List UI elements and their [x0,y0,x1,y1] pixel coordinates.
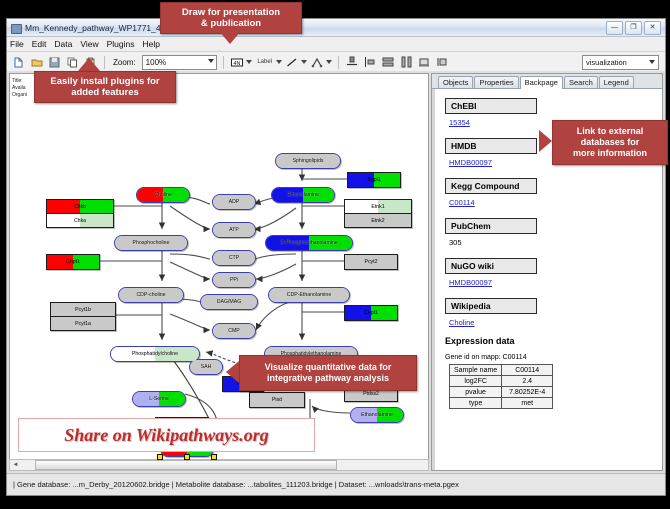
stack-icon[interactable] [381,55,396,70]
metabolite-node[interactable]: ADP [212,194,256,210]
callout-links: Link to external databases for more info… [552,120,668,165]
gene-product-stack[interactable]: ChkbChka [46,199,114,228]
callout-links-line3: more information [573,148,647,159]
align-icon[interactable] [345,55,360,70]
metabolite-node[interactable]: CTP [212,250,256,266]
close-button[interactable]: ✕ [644,21,661,35]
node-label: DAG/MAG [217,299,242,305]
chevron-down-icon[interactable] [326,60,332,64]
database-header: Kegg Compound [445,178,537,194]
metabolite-node[interactable]: Sphingolipids [275,153,341,169]
title-bar: Mm_Kennedy_pathway_WP1771_45176.gpml — ❐… [7,19,665,37]
chevron-down-icon[interactable] [276,60,282,64]
callout-plugins-arrow-icon [78,58,100,71]
metabolite-node[interactable]: CDP-choline [118,287,184,303]
metabolite-node[interactable]: Ethanolamine [271,187,335,203]
menu-item-help[interactable]: Help [143,39,160,49]
callout-visualize: Visualize quantitative data for integrat… [239,355,417,391]
tab-objects[interactable]: Objects [438,76,473,88]
selection-handle[interactable] [211,454,217,460]
order-icon[interactable] [435,55,450,70]
callout-share: Share on Wikipathways.org [18,418,315,452]
database-link[interactable]: HMDB00097 [449,278,662,287]
callout-draw-line1: Draw for presentation [182,7,280,18]
callout-visualize-line2: integrative pathway analysis [267,373,389,384]
database-header: HMDB [445,138,537,154]
node-label: CTP [229,255,239,261]
database-link[interactable]: C00114 [449,198,662,207]
tab-search[interactable]: Search [564,76,598,88]
node-label: ADP [229,199,240,205]
pathway-canvas[interactable]: Title: Availa Organi [10,74,426,471]
node-label: Etnk1 [371,204,384,210]
node-label: Phosphatidylcholine [132,351,178,357]
menu-item-data[interactable]: Data [54,39,72,49]
node-label: Phosphocholine [133,240,170,246]
metabolite-node[interactable]: DAG/MAG [200,294,258,310]
menu-item-file[interactable]: File [10,39,24,49]
metabolite-node[interactable]: Phosphocholine [114,235,188,251]
database-header: ChEBI [445,98,537,114]
scroll-left-icon[interactable]: ◄ [10,461,21,469]
metabolite-node[interactable]: CMP [212,323,256,339]
node-label: Sgpl1 [367,177,380,183]
screenshot-root: Mm_Kennedy_pathway_WP1771_45176.gpml — ❐… [0,0,670,509]
node-label: Chka [74,218,86,224]
gene-product-node[interactable]: Pisd [249,392,305,408]
gene-product-stack[interactable]: Pcyt1bPcyt1a [50,302,116,331]
callout-plugins-line1: Easily install plugins for [50,76,159,87]
selection-handle[interactable] [157,454,163,460]
metabolite-node[interactable]: SAH [189,359,223,375]
database-header: Wikipedia [445,298,537,314]
gene-product-node[interactable]: Cept1 [344,305,398,321]
chevron-down-icon[interactable] [208,59,214,63]
gene-product-node[interactable]: Etnk2 [345,214,411,227]
metabolite-node[interactable]: Choline [136,187,190,203]
minimize-button[interactable]: — [606,21,623,35]
node-label: Pisd [272,397,282,403]
database-header: NuGO wiki [445,258,537,274]
node-label: Chpt1 [66,259,80,265]
table-row: pvalue7.80252E-4 [450,387,553,398]
node-label: Pcyt1a [75,321,91,327]
metabolite-node[interactable]: CDP-Ethanolamine [268,287,350,303]
chevron-down-icon[interactable] [649,60,655,64]
menu-bar: File Edit Data View Plugins Help [7,37,665,52]
window-controls: — ❐ ✕ [606,21,661,35]
status-bar: | Gene database: ...m_Derby_20120602.bri… [7,473,665,495]
node-label: ATP [229,227,239,233]
node-label: Pcyt2 [365,259,378,265]
line-icon[interactable] [285,55,300,70]
callout-links-arrow-icon [539,130,552,152]
tab-backpage[interactable]: Backpage [520,76,563,89]
node-label: PPi [230,277,238,283]
expression-table: Sample nameC00114log2FC2.4pvalue7.80252E… [449,364,553,409]
node-label: L-Serine [149,396,169,402]
menu-item-view[interactable]: View [80,39,98,49]
table-cell: 2.4 [502,376,553,387]
table-cell: 7.80252E-4 [502,387,553,398]
node-label: CDP-choline [136,292,165,298]
node-label: CMP [228,328,240,334]
gene-product-node[interactable]: Pcyt1b [51,303,115,317]
visualization-select[interactable]: visualization [582,55,659,70]
callout-draw-arrow-icon [219,31,241,44]
node-label: Pcyt1b [75,307,91,313]
metabolite-node[interactable]: L-Serine [132,391,186,407]
app-icon [11,23,21,33]
label-tool[interactable]: Label [255,55,282,70]
space-icon[interactable] [399,55,414,70]
callout-visualize-line1: Visualize quantitative data for [265,362,392,373]
node-label: Cept1 [364,310,378,316]
gene-product-node[interactable]: Pcyt1a [51,317,115,330]
distribute-icon[interactable] [363,55,378,70]
tab-properties[interactable]: Properties [474,76,518,88]
table-cell: pvalue [450,387,502,398]
zoom-label: Zoom: [113,58,136,67]
menu-item-edit[interactable]: Edit [32,39,47,49]
toolbar-separator [104,56,105,69]
selection-handle[interactable] [184,454,190,460]
metabolite-node[interactable]: Ethanolamine [350,407,404,423]
datanode-tool[interactable]: 4N [230,55,252,70]
table-row: typemet [450,398,553,409]
gene-product-node[interactable]: Etnk1 [345,200,411,214]
table-cell: C00114 [502,365,553,376]
table-cell: met [502,398,553,409]
save-icon[interactable] [47,55,62,70]
node-label: Chkb [74,204,86,210]
gene-id-line: Gene id on mapp: C00114 [445,354,662,361]
callout-draw: Draw for presentation & publication [160,2,302,34]
callout-visualize-arrow-icon [226,361,239,383]
node-label: SAH [201,364,212,370]
menu-item-plugins[interactable]: Plugins [107,39,135,49]
gene-product-node[interactable]: Pcyt2 [344,254,398,270]
table-cell: Sample name [450,365,502,376]
node-label: Ethanolamine [361,412,393,418]
datanode-icon[interactable]: 4N [230,55,245,70]
gene-product-node[interactable]: Chka [47,214,113,227]
gene-product-node[interactable]: Chkb [47,200,113,214]
pathway-canvas-area[interactable]: Title: Availa Organi [9,73,429,471]
chevron-down-icon[interactable] [301,60,307,64]
shape-icon[interactable] [310,55,325,70]
callout-draw-line2: & publication [201,18,261,29]
toolbar-separator [223,56,224,69]
table-cell: type [450,398,502,409]
callout-links-line2: databases for [581,137,640,148]
canvas-hscrollbar[interactable]: ◄ [9,459,429,471]
toolbar: Zoom: 100% 4N Label [7,52,665,73]
svg-text:4N: 4N [234,60,241,66]
scroll-thumb[interactable] [35,460,337,470]
node-label: Etnk2 [371,218,384,224]
table-row: log2FC2.4 [450,376,553,387]
node-label: O-Phosphoethanolamine [280,240,337,246]
table-row: Sample nameC00114 [450,365,553,376]
shape-tool[interactable] [310,55,332,70]
status-text: | Gene database: ...m_Derby_20120602.bri… [7,480,459,489]
node-label: Sphingolipids [293,158,324,164]
node-label: Ptdss2 [363,391,379,397]
node-label: Choline [154,192,172,198]
gene-product-node[interactable]: Chpt1 [46,254,100,270]
metabolite-node[interactable]: PPi [212,272,256,288]
node-label: Ethanolamine [287,192,319,198]
metabolite-node[interactable]: Phosphatidylcholine [110,346,200,362]
side-panel-tabs: ObjectsPropertiesBackpageSearchLegend [432,74,662,89]
toolbar-separator [338,56,339,69]
open-folder-icon[interactable] [29,55,44,70]
tab-legend[interactable]: Legend [599,76,634,88]
maximize-button[interactable]: ❐ [625,21,642,35]
line-tool[interactable] [285,55,307,70]
database-link[interactable]: Choline [449,318,662,327]
metabolite-node[interactable]: O-Phosphoethanolamine [265,235,353,251]
group-icon[interactable] [417,55,432,70]
database-value: 305 [449,238,662,247]
expression-data-heading: Expression data [445,336,662,346]
gene-product-stack[interactable]: Etnk1Etnk2 [344,199,412,228]
table-cell: log2FC [450,376,502,387]
callout-plugins: Easily install plugins for added feature… [34,71,176,103]
label-icon[interactable]: Label [255,55,275,70]
visualization-value: visualization [586,58,627,67]
zoom-input[interactable]: 100% [142,55,217,70]
metabolite-node[interactable]: ATP [212,222,256,238]
gene-product-node[interactable]: Sgpl1 [347,172,401,188]
chevron-down-icon[interactable] [246,60,252,64]
callout-plugins-line2: added features [71,87,139,98]
callout-share-text: Share on Wikipathways.org [64,425,269,446]
callout-links-line1: Link to external [577,126,644,137]
node-label: CDP-Ethanolamine [287,292,331,298]
zoom-value: 100% [146,58,166,67]
database-header: PubChem [445,218,537,234]
new-file-icon[interactable] [11,55,26,70]
